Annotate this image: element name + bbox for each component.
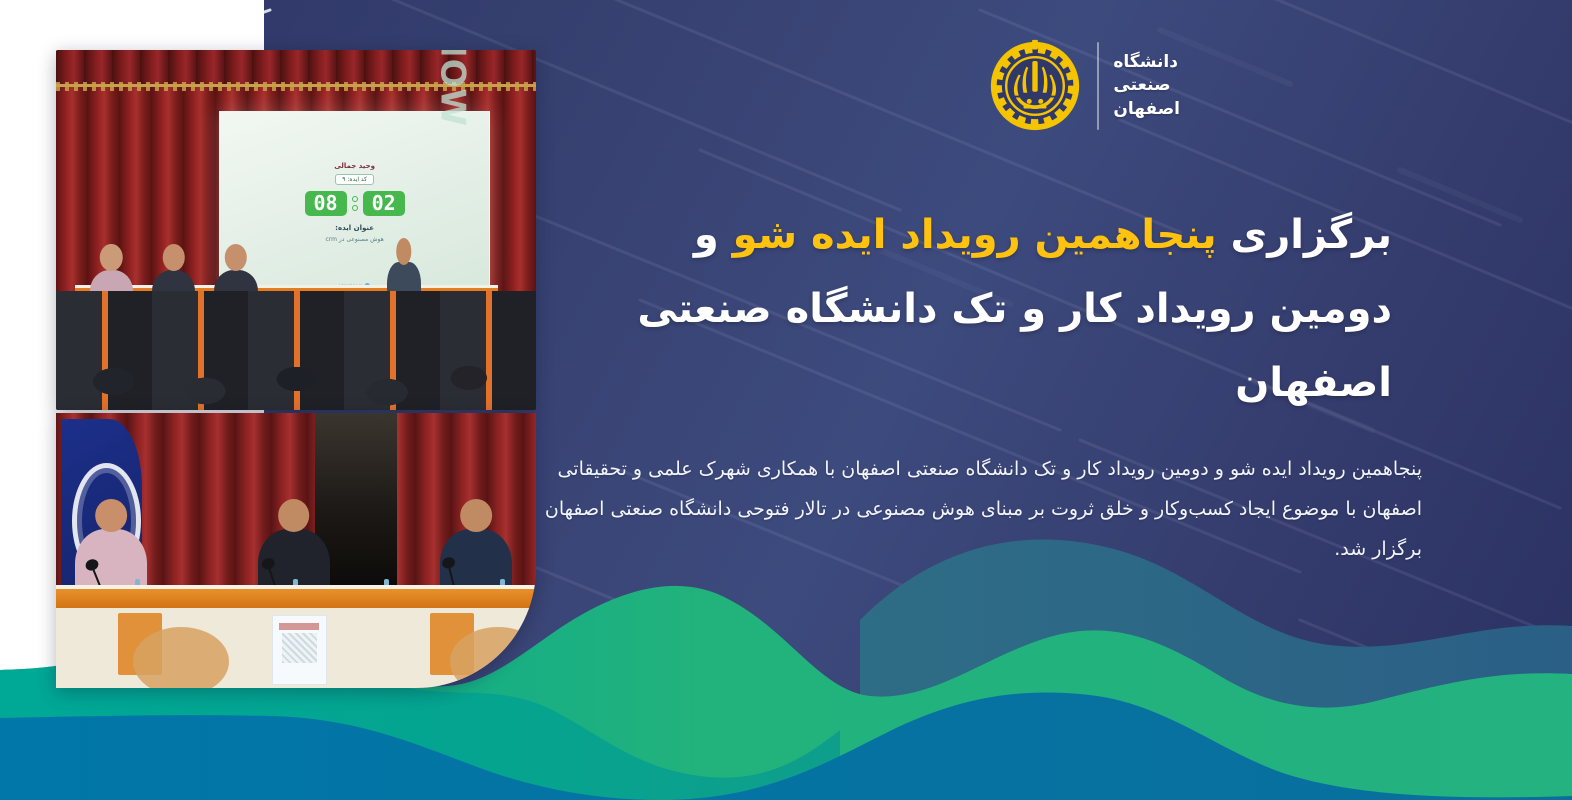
table-medallion [450,627,536,688]
gear-emblem-icon [987,38,1083,134]
slide-idea-code: کد ایده: ۹ [335,174,374,185]
slide-presenter-name: وحید جمالی [334,162,375,170]
photo-auditorium-presentation: IDEA SHOW وحید جمالی کد ایده: ۹ 02 08 عن… [56,50,536,410]
logo-line-2: صنعتی [1113,75,1170,96]
page-title: برگزاری پنجاهمین رویداد ایده شو و دومین … [632,198,1392,420]
timer-minutes: 02 [363,191,405,216]
audience-seats [56,291,536,410]
photo-panel-judges [56,413,536,688]
timer-colon-icon [352,196,358,211]
timer-seconds: 08 [305,191,347,216]
slide-watermark: IDEA SHOW [433,50,473,127]
headline-part-1: برگزاری [1217,212,1392,258]
event-poster [272,615,327,686]
banner-canvas: IDEA SHOW وحید جمالی کد ایده: ۹ 02 08 عن… [0,0,1572,800]
headline-highlight: پنجاهمین رویداد ایده شو [733,212,1217,258]
auditorium-scene: IDEA SHOW وحید جمالی کد ایده: ۹ 02 08 عن… [56,50,536,410]
judges-table [56,585,536,611]
table-medallion [133,627,229,688]
logo-wordmark: دانشگاه صنعتی اصفهان [1113,52,1180,120]
vertical-divider-icon [1097,42,1099,130]
logo-line-1: دانشگاه [1113,52,1178,73]
projection-screen: IDEA SHOW وحید جمالی کد ایده: ۹ 02 08 عن… [219,111,490,293]
slide-idea-title-label: عنوان ایده: [335,224,374,232]
judges-panel-scene [56,413,536,688]
iut-logo: دانشگاه صنعتی اصفهان [987,38,1180,134]
logo-line-3: اصفهان [1113,99,1180,120]
slide-idea-title-value: هوش مصنوعی در crm [325,236,383,243]
body-paragraph: پنجاهمین رویداد ایده شو و دومین رویداد ک… [542,450,1422,570]
slide-countdown-timer: 02 08 [305,191,405,216]
